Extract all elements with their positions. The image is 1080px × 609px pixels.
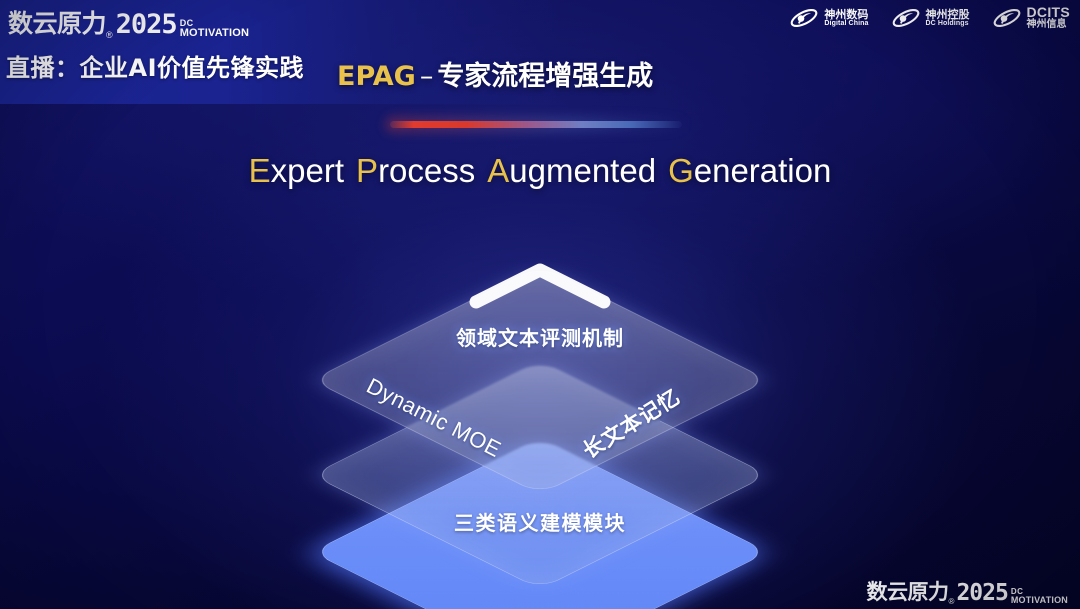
- title-acronym: EPAG: [337, 61, 416, 92]
- swoosh-logo-icon: [891, 5, 921, 31]
- title-dash: –: [420, 61, 434, 92]
- partner-name-cn: 神州控股: [926, 9, 970, 21]
- gradient-divider: [390, 121, 682, 128]
- partner-name-cn: 神州信息: [1027, 20, 1071, 31]
- watermark-logo-cn: 数云原力: [867, 576, 949, 606]
- diagram-layer-top: [258, 170, 822, 470]
- page-title: EPAG–专家流程增强生成: [337, 54, 653, 93]
- partner-name-en: Digital China: [824, 20, 868, 27]
- partner-logo-digital-china: 神州数码 Digital China: [789, 5, 868, 31]
- watermark-registered-mark: ®: [949, 597, 955, 606]
- brand-logo-year: 2025: [116, 9, 177, 40]
- partner-logo-dc-holdings: 神州控股 DC Holdings: [891, 5, 970, 31]
- brand-logo-cn: 数云原力: [8, 4, 106, 40]
- brand-logo: 数云原力 ® 2025 DC MOTIVATION: [8, 4, 249, 40]
- live-stream-title: 直播：企业AI价值先锋实践: [6, 48, 304, 83]
- partner-logo-dcits: DCITS 神州信息: [992, 5, 1071, 31]
- partner-logos: 神州数码 Digital China 神州控股 DC Holdings: [789, 5, 1070, 31]
- watermark-logo-year: 2025: [956, 580, 1007, 606]
- brand-logo-subtext: DC MOTIVATION: [180, 19, 249, 40]
- partner-label: DCITS 神州信息: [1027, 5, 1071, 30]
- swoosh-logo-icon: [992, 5, 1022, 31]
- brand-logo-registered-mark: ®: [106, 30, 113, 40]
- watermark-logo-motivation: MOTIVATION: [1011, 596, 1068, 605]
- watermark-logo-subtext: DC MOTIVATION: [1011, 588, 1068, 606]
- partner-label: 神州数码 Digital China: [824, 9, 868, 28]
- partner-name-cn: 神州数码: [824, 9, 868, 21]
- slide-canvas: 数云原力 ® 2025 DC MOTIVATION 直播：企业AI价值先锋实践 …: [0, 0, 1080, 609]
- swoosh-logo-icon: [789, 5, 819, 31]
- partner-name-en: DC Holdings: [926, 20, 970, 27]
- partner-label: 神州控股 DC Holdings: [926, 9, 970, 28]
- watermark-logo: 数云原力 ® 2025 DC MOTIVATION: [867, 576, 1068, 606]
- brand-logo-motivation: MOTIVATION: [180, 28, 249, 39]
- partner-brand-name: DCITS: [1027, 5, 1071, 20]
- title-chinese: 专家流程增强生成: [437, 61, 653, 92]
- layered-architecture-diagram: 领域文本评测机制 Dynamic MOE 长文本记忆 三类语义建模模块: [258, 222, 822, 582]
- chevron-up-icon: [466, 258, 614, 310]
